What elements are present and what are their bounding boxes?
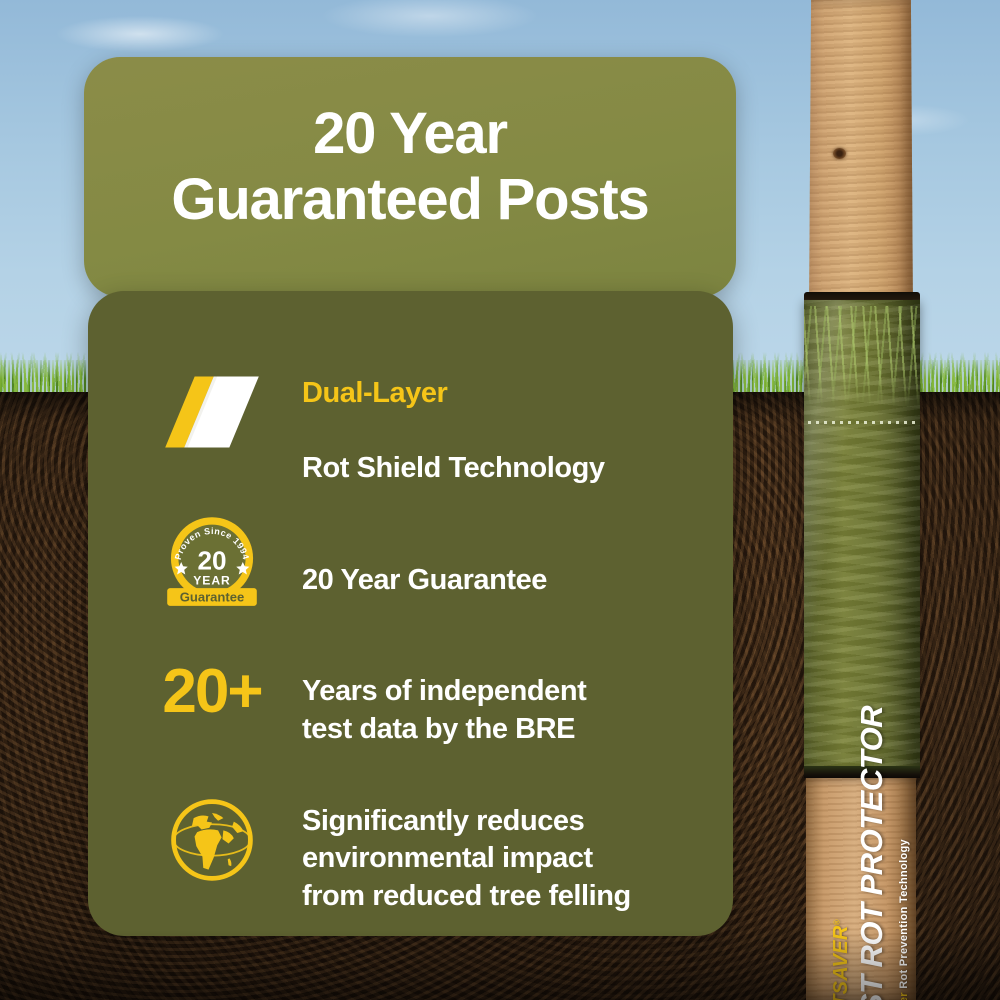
- poster-canvas: POSTSAVER® POST ROT PROTECTOR Dual-Layer…: [0, 0, 1000, 1000]
- wood-knot: [833, 148, 846, 159]
- feature-body-dual-layer: Rot Shield Technology: [302, 452, 605, 484]
- feature-text-guarantee: 20 Year Guarantee: [302, 524, 547, 599]
- badge-number: 20: [197, 545, 226, 575]
- feature-body-test-data: Years of independent test data by the BR…: [302, 675, 586, 745]
- badge-unit: YEAR: [193, 573, 230, 587]
- feature-row-environment: Significantly reduces environmental impa…: [88, 765, 733, 916]
- feature-body-environment: Significantly reduces environmental impa…: [302, 805, 631, 912]
- feature-text-environment: Significantly reduces environmental impa…: [302, 765, 631, 916]
- post-upper-timber: [809, 0, 913, 318]
- feature-text-dual-layer: Dual-Layer Rot Shield Technology: [302, 337, 605, 488]
- feature-text-test-data: Years of independent test data by the BR…: [302, 636, 586, 749]
- features-card: Dual-Layer Rot Shield Technology: [88, 291, 733, 936]
- stat-value: 20+: [162, 661, 261, 723]
- feature-row-test-data: 20+ Years of independent test data by th…: [88, 636, 733, 749]
- sleeve-subline-rest: Rot Prevention Technology: [898, 839, 910, 992]
- page-title: 20 Year Guaranteed Posts: [84, 57, 736, 232]
- twenty-plus-number-icon: 20+: [122, 636, 302, 748]
- fence-post: POSTSAVER® POST ROT PROTECTOR Dual-Layer…: [795, 0, 930, 1000]
- sleeve-headline-text: POST ROT PROTECTOR: [854, 706, 890, 1000]
- badge-ribbon-text: Guarantee: [180, 589, 245, 604]
- globe-icon: [122, 784, 302, 896]
- guarantee-badge-icon: Proven Since 1994 20 YEAR Guarantee: [122, 506, 302, 618]
- feature-row-guarantee: Proven Since 1994 20 YEAR Guarantee: [88, 506, 733, 618]
- feature-row-dual-layer: Dual-Layer Rot Shield Technology: [88, 337, 733, 488]
- sleeve-label: POSTSAVER® POST ROT PROTECTOR Dual-Layer…: [804, 300, 920, 776]
- sleeve-brand-text: POSTSAVER®: [830, 919, 853, 1000]
- dual-layer-parallelogram-icon: [122, 356, 302, 468]
- sleeve-subline-text: Dual-Layer Rot Prevention Technology: [898, 839, 910, 1000]
- features-list: Dual-Layer Rot Shield Technology: [88, 291, 733, 922]
- registered-trademark-icon: ®: [832, 919, 841, 925]
- header-card: 20 Year Guaranteed Posts: [84, 57, 736, 297]
- feature-body-guarantee: 20 Year Guarantee: [302, 564, 547, 596]
- feature-accent-dual-layer: Dual-Layer: [302, 375, 605, 413]
- sleeve-subline-accent: Dual-Layer: [898, 992, 910, 1000]
